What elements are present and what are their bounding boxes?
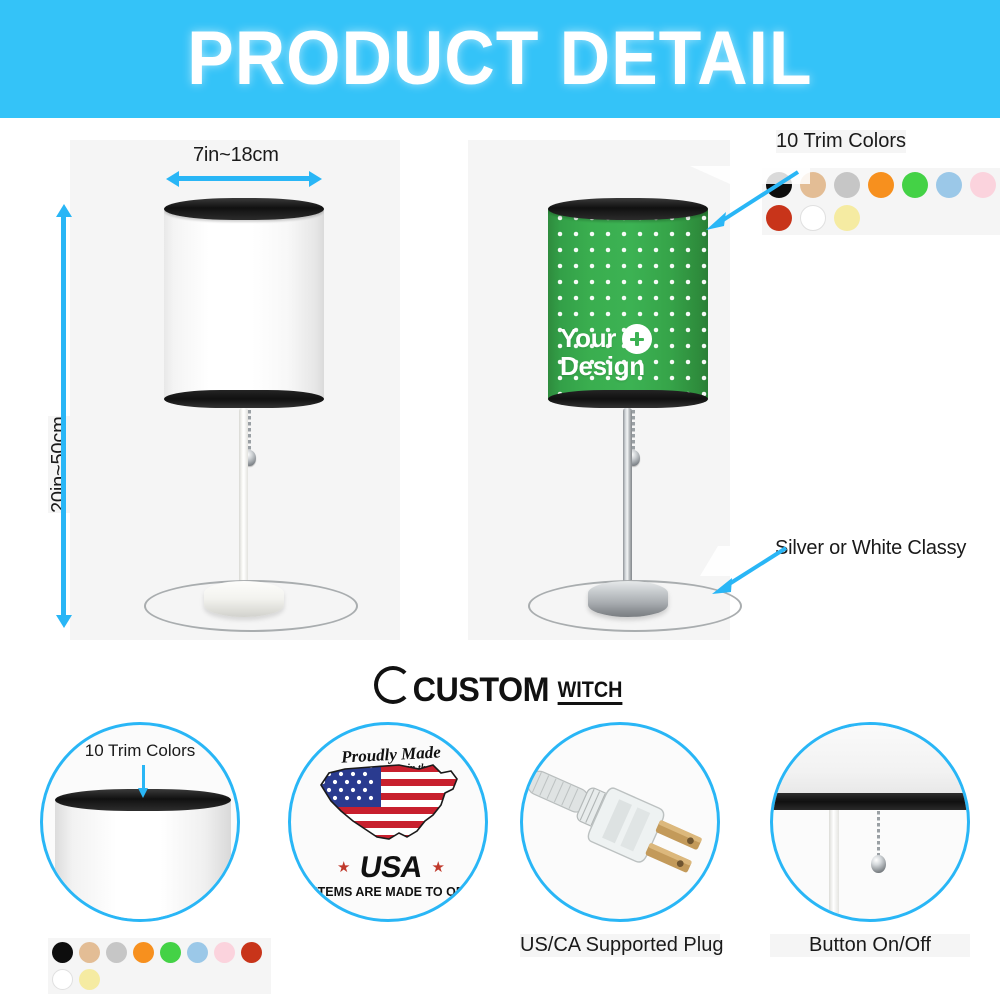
white-lamp-base (204, 581, 284, 617)
trim-swatch-yellow[interactable] (79, 969, 100, 990)
your-design-line2: Design (560, 354, 645, 379)
feature-trim-colors-arrow (142, 765, 145, 789)
usa-flag-map-icon (315, 759, 467, 860)
trim-swatch-light-blue[interactable] (187, 942, 208, 963)
green-lamp-pole (623, 408, 632, 608)
usa-star-right-icon: ★ (432, 858, 445, 876)
trim-swatch-green[interactable] (160, 942, 181, 963)
trim-swatch-orange[interactable] (133, 942, 154, 963)
trim-swatch-white[interactable] (52, 969, 73, 990)
your-design-block: Your Design (560, 324, 696, 379)
green-lamp-base (588, 581, 668, 617)
feature-button-on-off: Button On/Off (770, 722, 970, 922)
feature-trim-colors: 10 Trim Colors (40, 722, 240, 922)
trim-swatch-gray[interactable] (106, 942, 127, 963)
usa-big-text: USA (357, 851, 424, 885)
feature-shade-body (55, 797, 231, 922)
trim-color-swatch-grid-bottom (48, 938, 271, 994)
feature-plug-caption: US/CA Supported Plug (520, 934, 720, 957)
trim-swatch-tan[interactable] (79, 942, 100, 963)
trim-swatch-green[interactable] (902, 172, 928, 198)
trim-swatch-gray[interactable] (834, 172, 860, 198)
logo-primary-text: CUSTOM (413, 673, 550, 707)
feature-trim-colors-label: 10 Trim Colors (85, 741, 196, 761)
white-lamp-pull-chain[interactable] (248, 410, 251, 454)
white-shade-bottom-trim (164, 390, 324, 408)
feature-made-in-usa: Proudly Made in the (288, 722, 488, 922)
page-title: PRODUCT DETAIL (187, 21, 812, 97)
green-lamp: Your Design (548, 198, 718, 628)
green-shade-top-trim (548, 198, 708, 220)
white-lamp (164, 198, 334, 628)
onoff-lamp-pole (829, 810, 839, 922)
feature-plug: US/CA Supported Plug (520, 722, 720, 922)
width-dimension-arrow (178, 176, 310, 181)
logo-c-swash-icon (374, 666, 412, 704)
trim-swatch-light-blue[interactable] (936, 172, 962, 198)
onoff-chain-ball[interactable] (871, 855, 886, 873)
feature-button-on-off-caption: Button On/Off (770, 934, 970, 957)
plus-icon (622, 324, 652, 354)
trim-swatch-pink[interactable] (214, 942, 235, 963)
green-shade-body: Your Design (548, 206, 708, 402)
feature-button-on-off-circle (770, 722, 970, 922)
base-finish-pointer-arrow (700, 542, 810, 602)
green-lamp-shade: Your Design (548, 198, 708, 408)
trim-colors-pointer-arrow (690, 166, 810, 236)
logo-secondary-text: WITCH (557, 679, 622, 705)
height-dimension-label: 20in~50cm (48, 416, 71, 513)
height-dimension-arrow (61, 216, 66, 616)
white-shade-top-trim (164, 198, 324, 220)
white-lamp-pole (239, 408, 248, 608)
main-product-area: 7in~18cm 20in~50cm Your (0, 118, 1000, 658)
green-lamp-pull-chain[interactable] (632, 410, 635, 454)
white-lamp-shade (164, 198, 324, 408)
green-shade-bottom-trim (548, 390, 708, 408)
feature-plug-circle (520, 722, 720, 922)
your-design-line1: Your (560, 326, 616, 351)
usa-sub-text: ALL ITEMS ARE MADE TO ORDER! (288, 885, 488, 899)
width-dimension-label: 7in~18cm (193, 144, 279, 167)
feature-made-in-usa-circle: Proudly Made in the (288, 722, 488, 922)
power-plug-icon (523, 725, 720, 922)
trim-swatch-red[interactable] (241, 942, 262, 963)
trim-swatch-pink[interactable] (970, 172, 996, 198)
trim-swatch-black[interactable] (52, 942, 73, 963)
onoff-shade-body (770, 722, 970, 795)
header-banner: PRODUCT DETAIL (0, 0, 1000, 118)
feature-trim-colors-circle: 10 Trim Colors (40, 722, 240, 922)
trim-swatch-yellow[interactable] (834, 205, 860, 231)
onoff-shade-trim (770, 793, 970, 810)
usa-star-left-icon: ★ (337, 858, 350, 876)
trim-swatch-orange[interactable] (868, 172, 894, 198)
white-shade-body (164, 206, 324, 402)
brand-logo: CUSTOM WITCH (0, 662, 1000, 710)
trim-colors-title: 10 Trim Colors (776, 130, 906, 153)
onoff-pull-chain[interactable] (877, 811, 880, 859)
